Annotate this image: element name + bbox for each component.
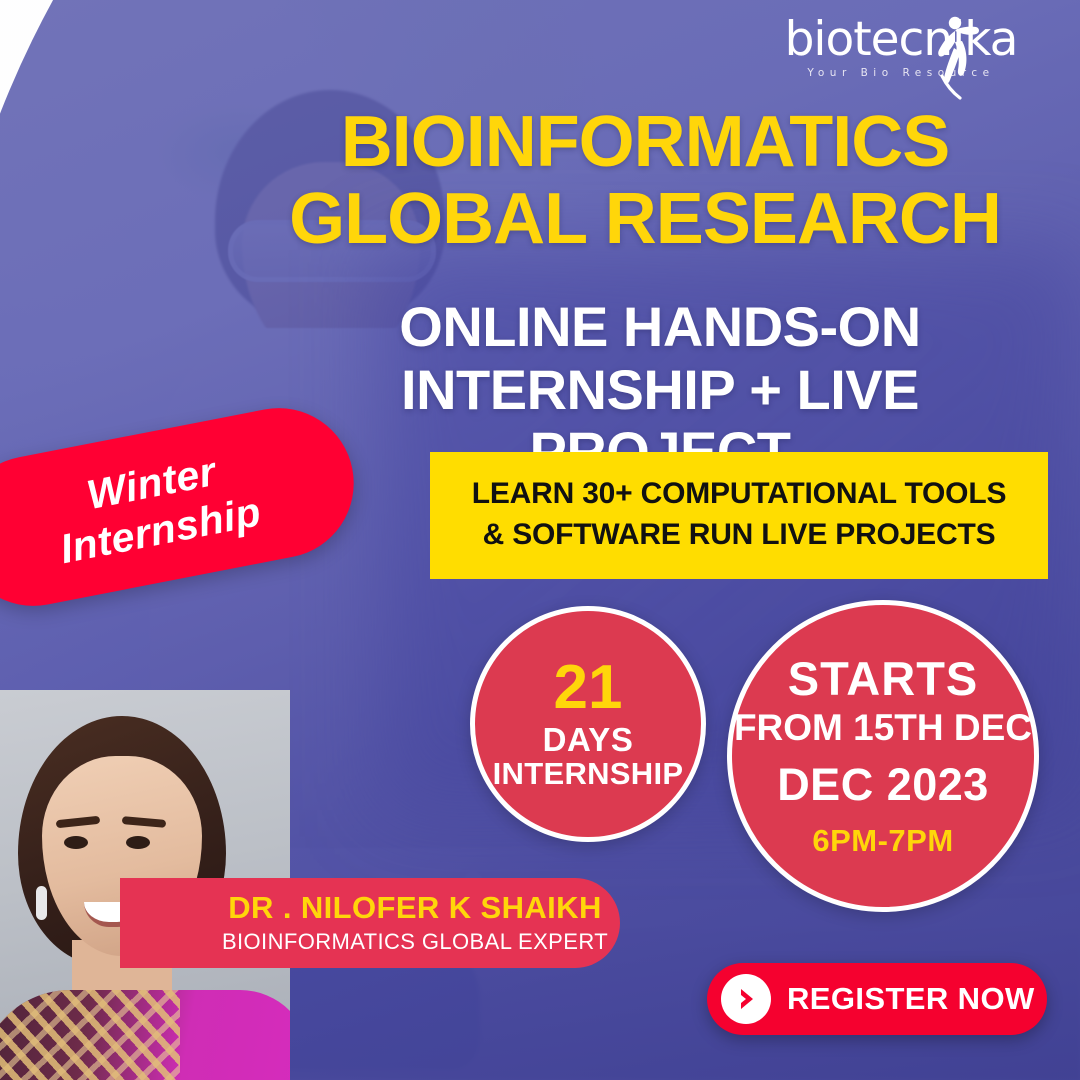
duration-unit: DAYS <box>543 723 634 758</box>
duration-number: 21 <box>554 657 623 719</box>
start-from-date: FROM 15TH DEC <box>734 707 1032 750</box>
speaker-name-banner: DR . NILOFER K SHAIKH BIOINFORMATICS GLO… <box>120 878 620 968</box>
speaker-attire-pattern <box>0 990 180 1080</box>
register-now-label: REGISTER NOW <box>787 981 1035 1017</box>
tools-banner: LEARN 30+ COMPUTATIONAL TOOLS & SOFTWARE… <box>430 452 1048 579</box>
speaker-earring-left <box>36 886 47 920</box>
chevron-right-icon <box>721 974 771 1024</box>
speaker-name: DR . NILOFER K SHAIKH <box>228 891 602 925</box>
tools-banner-line-1: LEARN 30+ COMPUTATIONAL TOOLS <box>440 474 1038 515</box>
start-month-year: DEC 2023 <box>777 759 989 811</box>
speaker-eye-left <box>64 836 88 849</box>
duration-kind: INTERNSHIP <box>493 757 684 791</box>
subheadline-line-1: ONLINE HANDS-ON <box>270 296 1050 359</box>
start-time: 6PM-7PM <box>812 823 953 859</box>
register-now-button[interactable]: REGISTER NOW <box>707 963 1047 1035</box>
start-label: STARTS <box>788 653 979 705</box>
brand-logo-tagline: Your Bio Resource <box>770 67 1032 79</box>
poster-headline: BIOINFORMATICS GLOBAL RESEARCH <box>240 104 1050 258</box>
speaker-eye-right <box>126 836 150 849</box>
promo-poster: biotecnika Your Bio Resource BIOINFORMAT… <box>0 0 1080 1080</box>
running-figure-icon <box>924 14 980 100</box>
headline-line-2: GLOBAL RESEARCH <box>240 181 1050 258</box>
duration-circle: 21 DAYS INTERNSHIP <box>470 606 706 842</box>
brand-logo-wordmark: biotecnika <box>770 16 1032 63</box>
start-date-circle: STARTS FROM 15TH DEC DEC 2023 6PM-7PM <box>727 600 1039 912</box>
speaker-role: BIOINFORMATICS GLOBAL EXPERT <box>222 930 608 954</box>
headline-line-1: BIOINFORMATICS <box>240 104 1050 181</box>
tools-banner-line-2: & SOFTWARE RUN LIVE PROJECTS <box>440 515 1038 556</box>
brand-logo: biotecnika Your Bio Resource <box>770 16 1032 79</box>
